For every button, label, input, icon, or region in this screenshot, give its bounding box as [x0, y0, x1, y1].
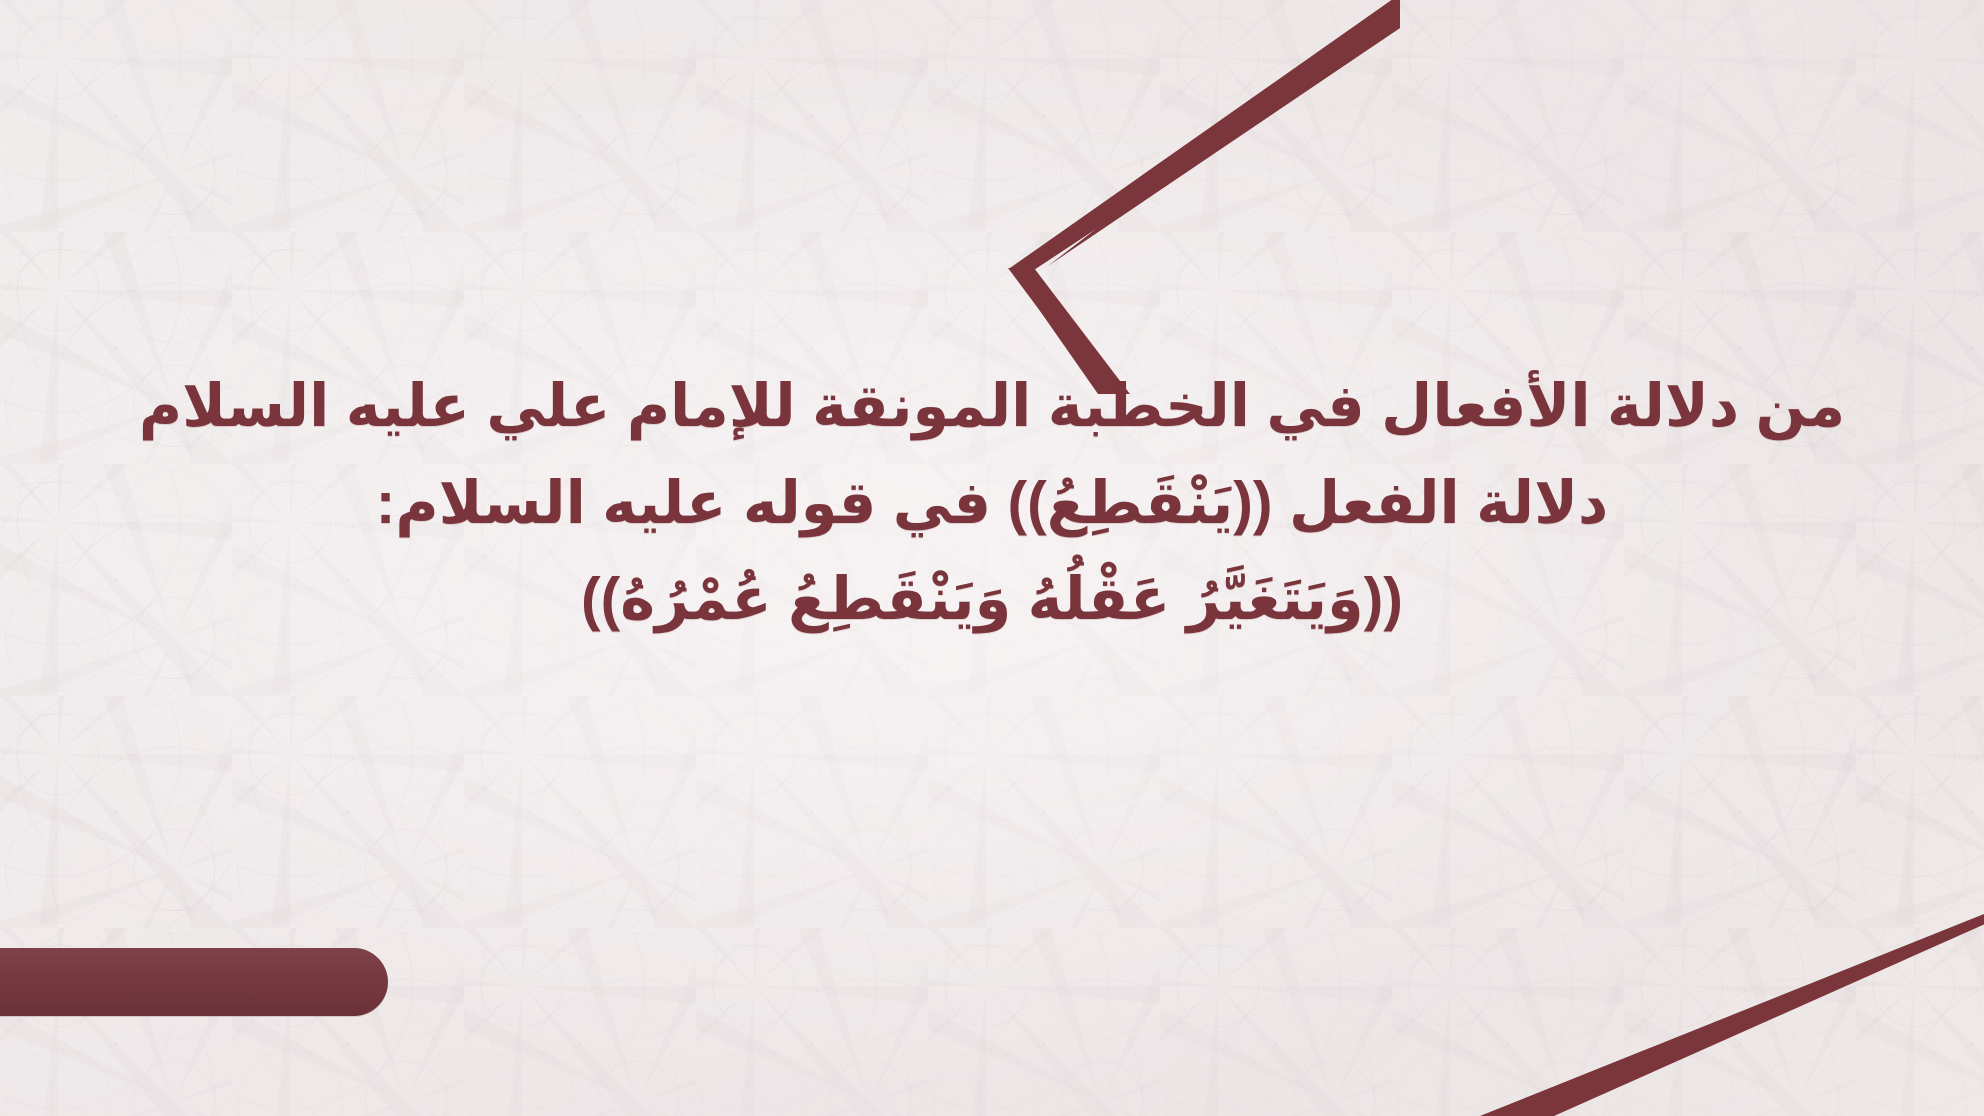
slide-canvas: من دلالة الأفعال في الخطبة المونقة للإما… — [0, 0, 1984, 1116]
slide-quote: ((وَيَتَغَيَّرُ عَقْلُهُ وَيَنْقَطِعُ عُ… — [0, 560, 1984, 639]
slide-subtitle: دلالة الفعل ((يَنْقَطِعُ)) في قوله عليه … — [0, 465, 1984, 542]
page-title: من دلالة الأفعال في الخطبة المونقة للإما… — [0, 370, 1984, 443]
slide-text-block: من دلالة الأفعال في الخطبة المونقة للإما… — [0, 370, 1984, 639]
pill-bar-icon — [0, 948, 388, 1016]
